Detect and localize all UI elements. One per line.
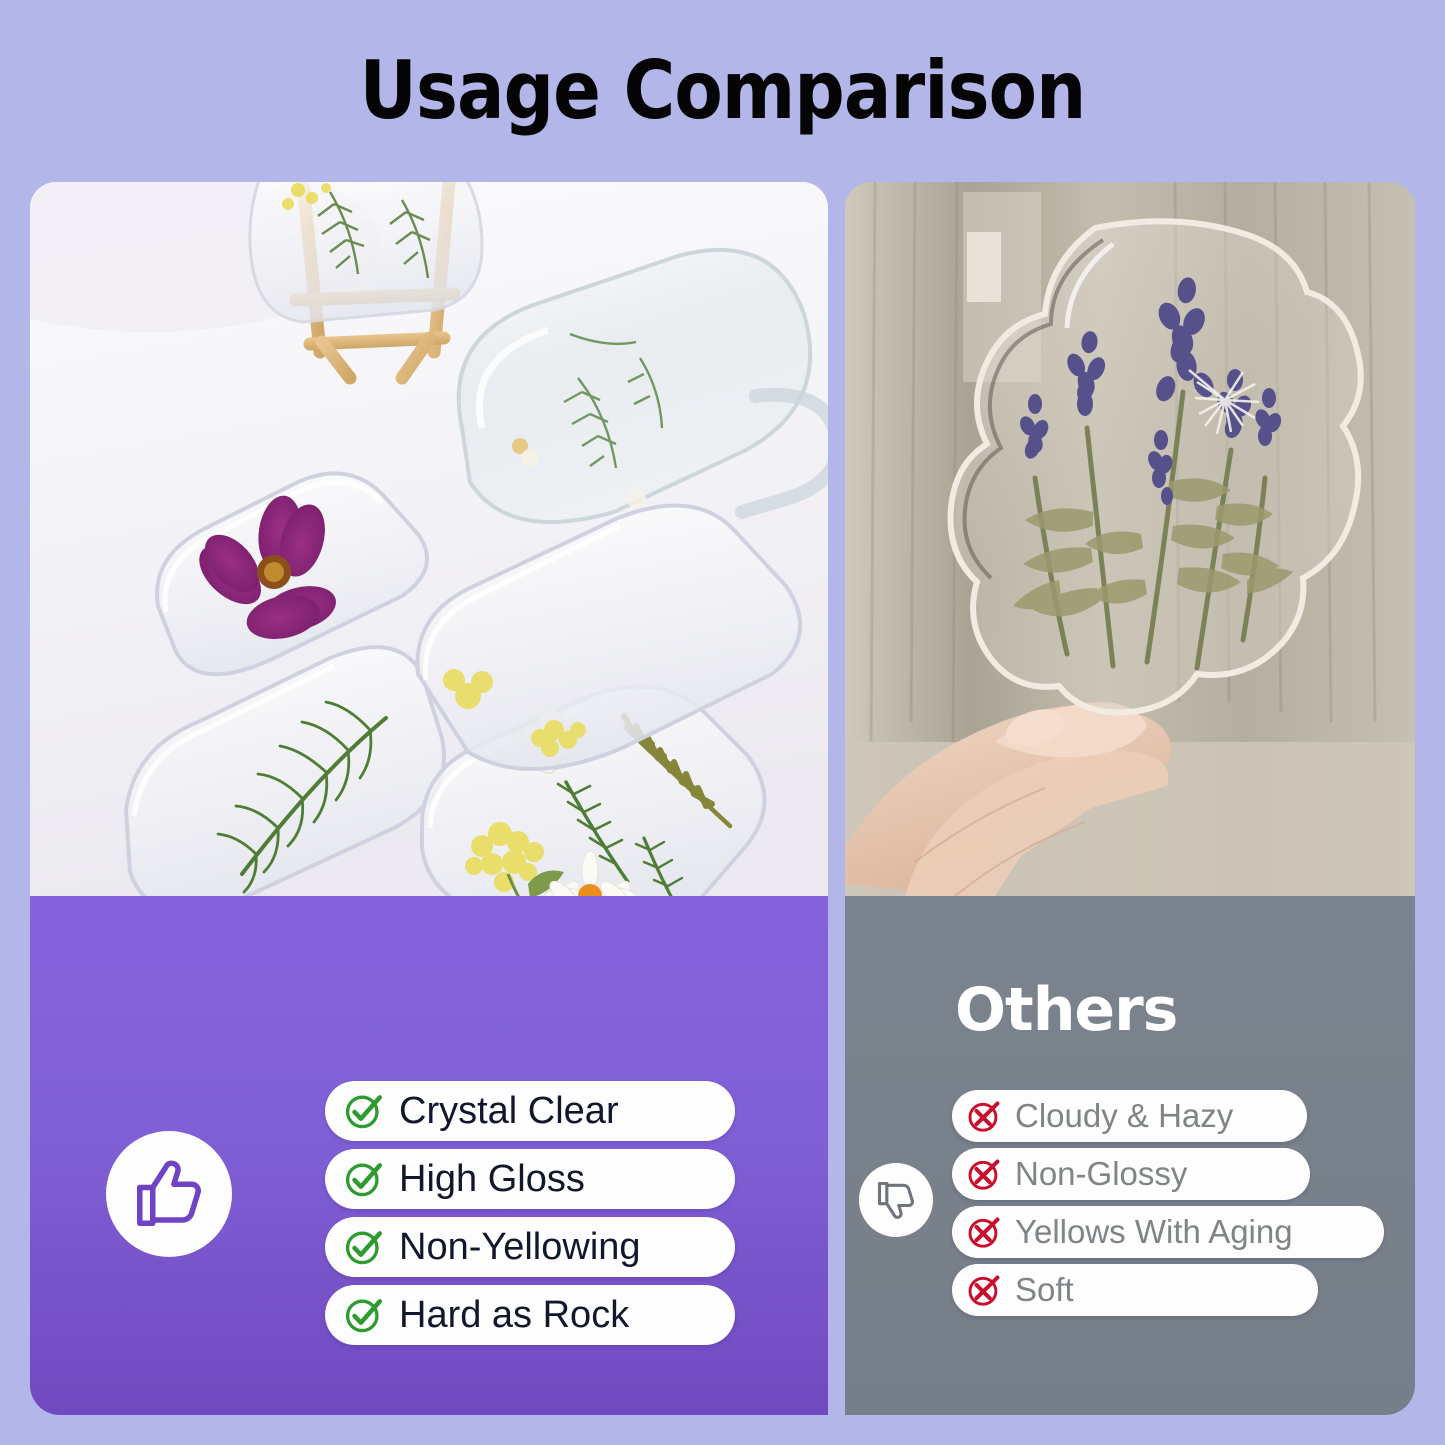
green-check-circle-icon	[343, 1158, 385, 1200]
feature-label: Hard as Rock	[399, 1294, 629, 1337]
red-x-circle-icon	[966, 1098, 1003, 1135]
drawback-label: Yellows With Aging	[1015, 1213, 1315, 1251]
drawback-label: Cloudy & Hazy	[1015, 1097, 1255, 1135]
feature-list-ours: Crystal Clear High Gloss Non-Yellowing H…	[325, 1081, 735, 1353]
red-x-circle-icon	[966, 1214, 1003, 1251]
thumbs-down-badge	[859, 1163, 933, 1237]
green-check-circle-icon	[343, 1090, 385, 1132]
feature-list-others: Cloudy & Hazy Non-Glossy Yellows With Ag…	[952, 1090, 1384, 1322]
drawback-label: Soft	[1015, 1271, 1096, 1309]
thumbs-down-icon	[874, 1178, 918, 1222]
feature-label: High Gloss	[399, 1158, 585, 1201]
feature-label: Crystal Clear	[399, 1090, 619, 1133]
red-x-circle-icon	[966, 1156, 1003, 1193]
feature-badge[interactable]: Hard as Rock	[325, 1285, 735, 1345]
drawback-badge[interactable]: Yellows With Aging	[952, 1206, 1384, 1258]
green-check-circle-icon	[343, 1294, 385, 1336]
drawback-badge[interactable]: Non-Glossy	[952, 1148, 1310, 1200]
drawback-badge[interactable]: Soft	[952, 1264, 1318, 1316]
page-title: Usage Comparison	[87, 44, 1359, 137]
others-heading: Others	[955, 975, 1177, 1045]
feature-badge[interactable]: High Gloss	[325, 1149, 735, 1209]
red-x-circle-icon	[966, 1272, 1003, 1309]
green-check-circle-icon	[343, 1226, 385, 1268]
drawback-label: Non-Glossy	[1015, 1155, 1209, 1193]
thumbs-up-icon	[130, 1155, 208, 1233]
drawback-badge[interactable]: Cloudy & Hazy	[952, 1090, 1307, 1142]
feature-badge[interactable]: Non-Yellowing	[325, 1217, 735, 1277]
feature-label: Non-Yellowing	[399, 1226, 641, 1269]
feature-badge[interactable]: Crystal Clear	[325, 1081, 735, 1141]
thumbs-up-badge	[106, 1131, 232, 1257]
product-photo-left	[30, 182, 828, 896]
product-photo-right	[845, 182, 1415, 896]
